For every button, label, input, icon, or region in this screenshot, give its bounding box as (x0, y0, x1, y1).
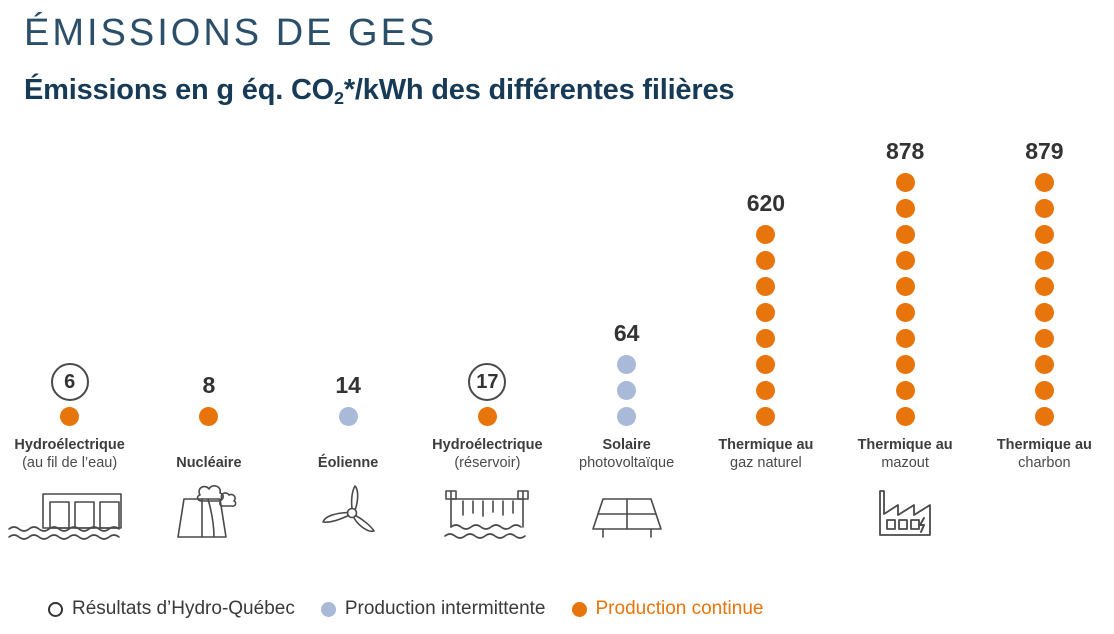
dot-production-continue (896, 407, 915, 426)
page-title-part1: Émissions en g éq. CO (24, 74, 334, 106)
dot-production-continue (756, 303, 775, 322)
column-label-sub: gaz naturel (696, 454, 835, 473)
value-label: 8 (202, 374, 215, 397)
dot-production-continue (756, 277, 775, 296)
dot-production-continue (478, 407, 497, 426)
dot-stack (199, 407, 218, 426)
chart-column: 879Thermique aucharbon (975, 118, 1114, 573)
dot-stack (896, 173, 915, 426)
column-stack: 8 (139, 374, 278, 426)
column-label-sub: (réservoir) (418, 454, 557, 473)
dot-production-continue (896, 277, 915, 296)
column-label-sub: photovoltaïque (557, 454, 696, 473)
dot-production-continue (756, 225, 775, 244)
dot-production-intermittente (617, 407, 636, 426)
column-stack: 14 (279, 374, 418, 426)
solar-panel-icon (557, 483, 696, 545)
column-label-main: Thermique au (836, 436, 975, 455)
column-label: Éolienne (279, 454, 418, 473)
column-label: Thermique aucharbon (975, 436, 1114, 473)
dot-production-continue (1035, 303, 1054, 322)
value-label: 620 (747, 192, 785, 215)
chart-column: 6Hydroélectrique(au fil de l’eau) (0, 118, 139, 573)
dot-stack (478, 407, 497, 426)
dot-production-continue (896, 225, 915, 244)
dot-stack (756, 225, 775, 426)
icon-slot-empty (975, 483, 1114, 545)
value-label: 878 (886, 140, 924, 163)
dot-stack (1035, 173, 1054, 426)
column-stack: 6 (0, 363, 139, 426)
dot-production-continue (1035, 329, 1054, 348)
page-title-part2: */kWh des différentes filières (344, 74, 734, 106)
page-title: Émissions en g éq. CO2*/kWh des différen… (24, 74, 734, 107)
legend-item: Production continue (572, 598, 764, 620)
column-label-sub: (au fil de l’eau) (0, 454, 139, 473)
dot-production-continue (60, 407, 79, 426)
legend-item: Résultats d’Hydro-Québec (48, 598, 295, 620)
column-stack: 17 (418, 363, 557, 426)
legend-marker-intermittent-icon (321, 602, 336, 617)
column-label: Solairephotovoltaïque (557, 436, 696, 473)
dot-production-continue (1035, 407, 1054, 426)
chart-column: 64Solairephotovoltaïque (557, 118, 696, 573)
column-label-main: Solaire (557, 436, 696, 455)
legend-label: Résultats d’Hydro-Québec (72, 598, 295, 620)
dot-production-continue (1035, 355, 1054, 374)
chart-column: 878Thermique aumazout (836, 118, 975, 573)
dot-production-continue (1035, 251, 1054, 270)
emissions-chart: 6Hydroélectrique(au fil de l’eau) 8Nuclé… (0, 118, 1114, 573)
dot-production-continue (756, 355, 775, 374)
column-label-sub: mazout (836, 454, 975, 473)
column-label: Hydroélectrique(au fil de l’eau) (0, 436, 139, 473)
column-stack: 64 (557, 322, 696, 426)
legend-label: Production intermittente (345, 598, 546, 620)
column-label-main: Nucléaire (139, 454, 278, 473)
dot-production-continue (1035, 199, 1054, 218)
column-label-main: Thermique au (975, 436, 1114, 455)
legend-marker-continue-icon (572, 602, 587, 617)
dot-stack (339, 407, 358, 426)
column-label-main: Éolienne (279, 454, 418, 473)
dot-production-continue (1035, 225, 1054, 244)
nuclear-cooling-tower-icon (139, 483, 278, 545)
dot-production-continue (896, 329, 915, 348)
dot-production-continue (1035, 173, 1054, 192)
legend-item: Production intermittente (321, 598, 546, 620)
dot-production-continue (1035, 381, 1054, 400)
column-stack: 878 (836, 140, 975, 426)
dot-production-continue (896, 355, 915, 374)
dot-production-continue (199, 407, 218, 426)
column-stack: 620 (696, 192, 835, 426)
dot-production-continue (896, 199, 915, 218)
column-label-main: Hydroélectrique (0, 436, 139, 455)
dot-production-intermittente (339, 407, 358, 426)
co2-subscript: 2 (334, 88, 344, 108)
dot-production-continue (896, 303, 915, 322)
dot-production-continue (756, 381, 775, 400)
column-label-main: Hydroélectrique (418, 436, 557, 455)
column-label-sub: charbon (975, 454, 1114, 473)
reservoir-dam-icon (418, 483, 557, 545)
dot-production-intermittente (617, 381, 636, 400)
dot-production-intermittente (617, 355, 636, 374)
run-of-river-dam-icon (0, 483, 139, 545)
chart-column: 14Éolienne (279, 118, 418, 573)
dot-production-continue (756, 407, 775, 426)
value-label: 879 (1025, 140, 1063, 163)
dot-production-continue (756, 251, 775, 270)
chart-column: 620Thermique augaz naturel (696, 118, 835, 573)
chart-legend: Résultats d’Hydro-QuébecProduction inter… (48, 598, 763, 620)
dot-production-continue (1035, 277, 1054, 296)
chart-column: 17Hydroélectrique(réservoir) (418, 118, 557, 573)
legend-label: Production continue (596, 598, 764, 620)
wind-turbine-icon (279, 483, 418, 545)
dot-production-continue (896, 381, 915, 400)
dot-stack (617, 355, 636, 426)
column-label: Thermique augaz naturel (696, 436, 835, 473)
factory-icon (836, 483, 975, 545)
dot-production-continue (896, 173, 915, 192)
value-label: 14 (335, 374, 361, 397)
column-label: Hydroélectrique(réservoir) (418, 436, 557, 473)
chart-column: 8Nucléaire (139, 118, 278, 573)
column-label: Nucléaire (139, 454, 278, 473)
legend-marker-hollow-icon (48, 602, 63, 617)
column-stack: 879 (975, 140, 1114, 426)
column-label-main: Thermique au (696, 436, 835, 455)
value-label-circled: 6 (51, 363, 89, 401)
column-label: Thermique aumazout (836, 436, 975, 473)
dot-production-continue (896, 251, 915, 270)
dot-production-continue (756, 329, 775, 348)
value-label: 64 (614, 322, 640, 345)
value-label-circled: 17 (468, 363, 506, 401)
page-kicker: ÉMISSIONS DE GES (24, 12, 437, 55)
dot-stack (60, 407, 79, 426)
icon-slot-empty (696, 483, 835, 545)
